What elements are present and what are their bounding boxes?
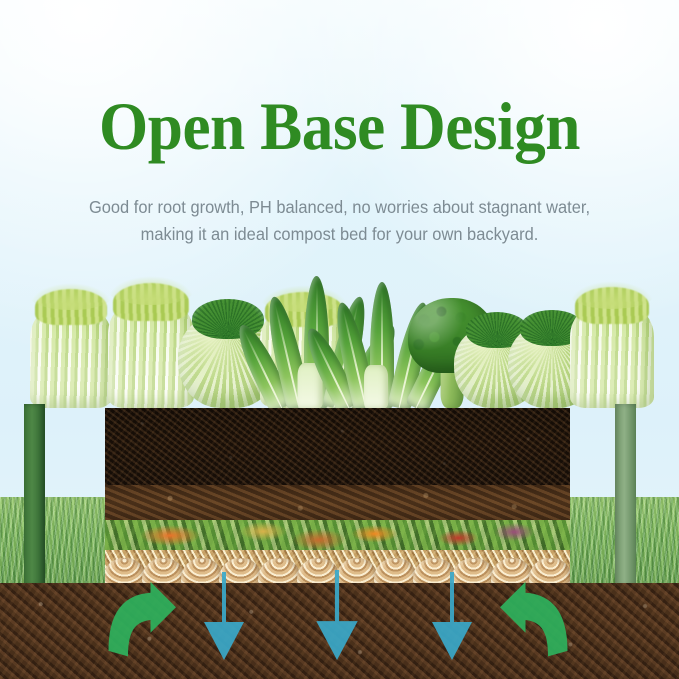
napa-cabbage	[30, 302, 112, 408]
drainage-arrow-blue-2	[308, 568, 366, 662]
raised-garden-bed	[0, 408, 679, 583]
drainage-arrow-blue-1	[196, 570, 252, 662]
layer-dark-compost-topsoil	[105, 408, 570, 485]
layer-kitchen-scraps	[105, 520, 570, 550]
page-title: Open Base Design	[24, 92, 655, 160]
drainage-arrow-blue-3	[424, 570, 480, 662]
layer-brown-subsoil	[105, 485, 570, 520]
airflow-arrow-green-left	[104, 580, 176, 660]
product-feature-image: Open Base Design Good for root growth, P…	[0, 0, 679, 679]
bed-corner-post-left	[24, 404, 45, 586]
page-subtitle: Good for root growth, PH balanced, no wo…	[43, 194, 636, 248]
airflow-arrow-green-right	[500, 580, 572, 660]
bed-corner-post-right	[615, 404, 636, 586]
napa-cabbage	[570, 300, 654, 408]
soil-cross-section	[105, 408, 570, 583]
